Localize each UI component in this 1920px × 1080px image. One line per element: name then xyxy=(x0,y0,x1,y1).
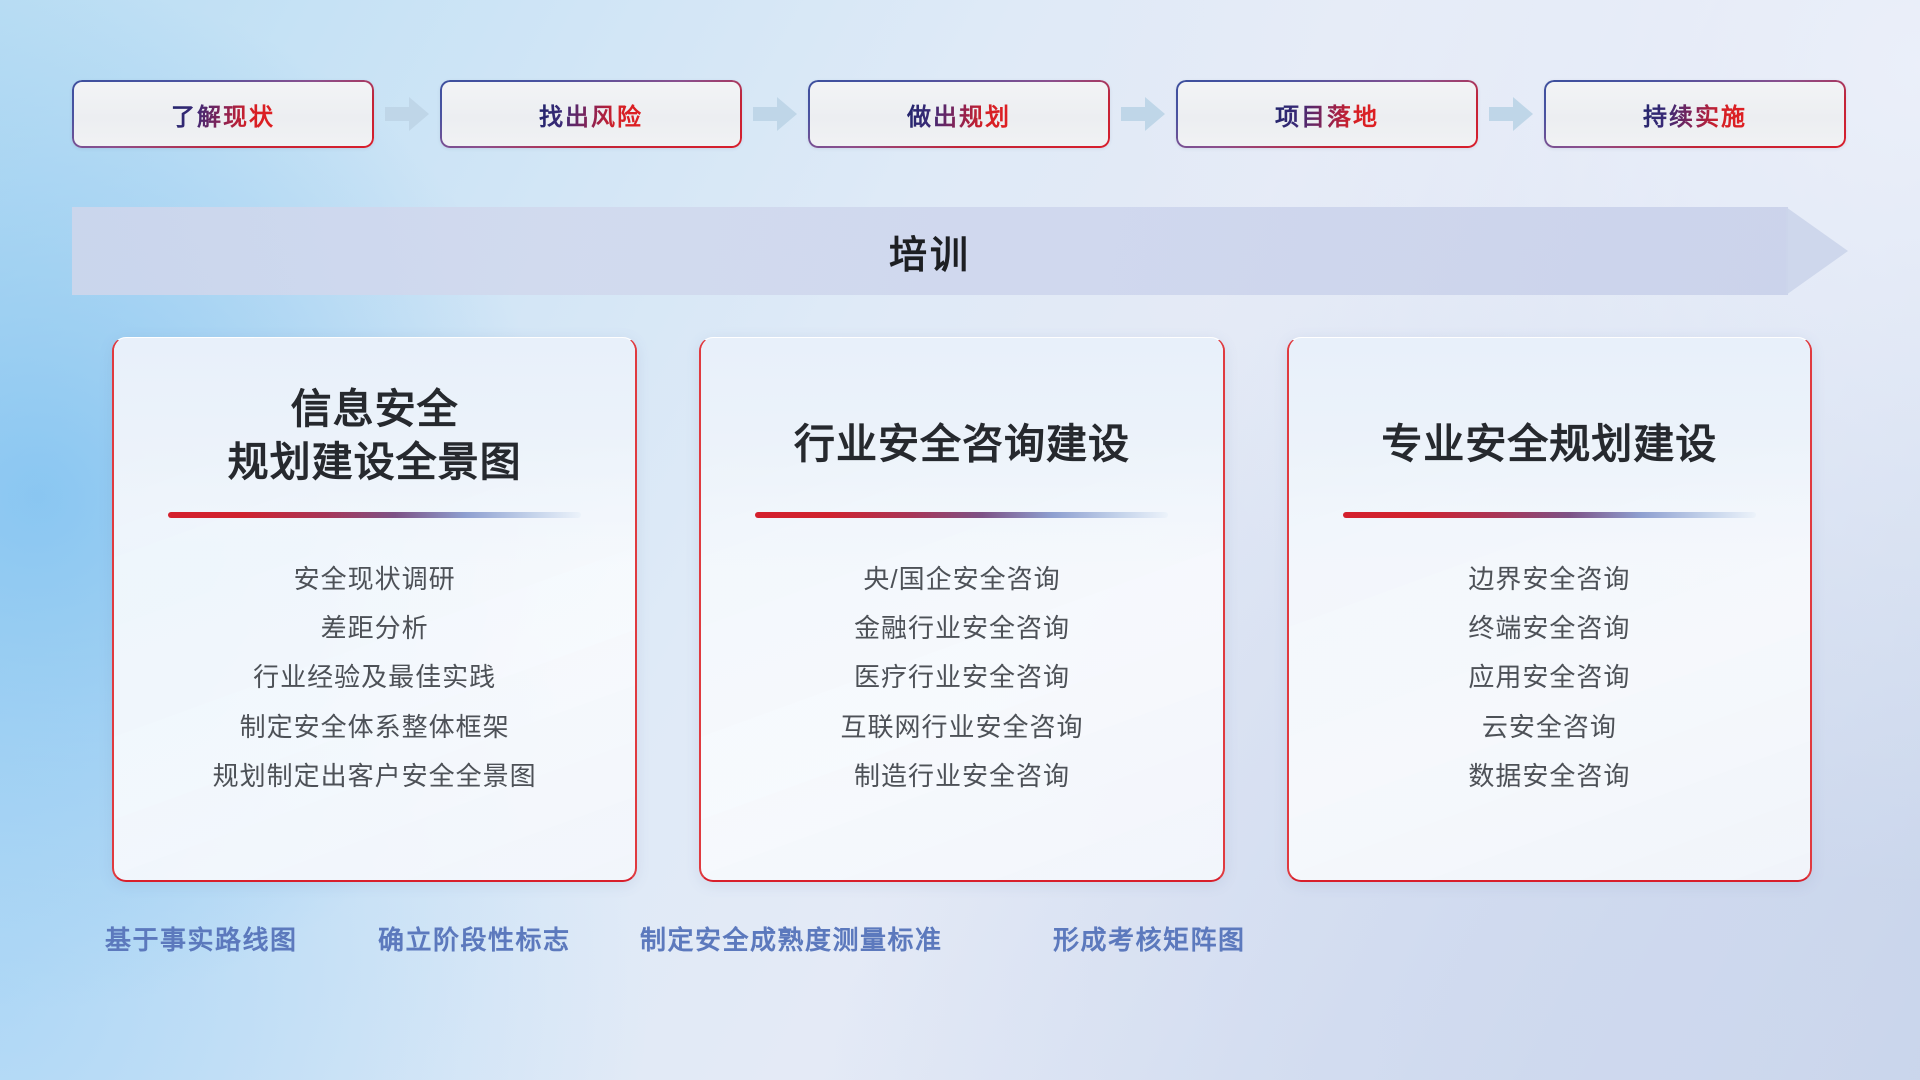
list-item: 安全现状调研 xyxy=(294,564,456,595)
process-step-1-label: 了解现状 xyxy=(171,97,275,132)
list-item: 终端安全咨询 xyxy=(1468,613,1630,644)
process-step-3-label: 做出规划 xyxy=(907,97,1011,132)
card-information-security-blueprint[interactable]: 信息安全 规划建设全景图 安全现状调研 差距分析 行业经验及最佳实践 制定安全体… xyxy=(112,337,637,882)
card-3-divider xyxy=(1343,512,1756,518)
process-step-2-label: 找出风险 xyxy=(539,97,643,132)
process-step-row: 了解现状 找出风险 做出规划 项目落地 xyxy=(72,80,1848,148)
process-step-3[interactable]: 做出规划 xyxy=(808,80,1110,148)
training-banner: 培训 xyxy=(72,207,1848,295)
card-1-title-line1: 信息安全 xyxy=(291,386,459,432)
list-item: 应用安全咨询 xyxy=(1468,662,1630,693)
list-item: 边界安全咨询 xyxy=(1468,564,1630,595)
list-item: 互联网行业安全咨询 xyxy=(840,712,1083,743)
arrow-right-icon xyxy=(374,94,440,134)
process-step-4-label: 项目落地 xyxy=(1275,97,1379,132)
footnote-milestone: 确立阶段性标志 xyxy=(378,920,571,957)
list-item: 差距分析 xyxy=(321,613,429,644)
list-item: 规划制定出客户安全全景图 xyxy=(213,761,537,792)
training-banner-title: 培训 xyxy=(72,207,1788,295)
card-1-divider xyxy=(168,512,581,518)
card-2-divider xyxy=(755,512,1168,518)
card-3-title: 专业安全规划建设 xyxy=(1381,382,1717,490)
process-step-5[interactable]: 持续实施 xyxy=(1544,80,1846,148)
card-professional-security-planning[interactable]: 专业安全规划建设 边界安全咨询 终端安全咨询 应用安全咨询 云安全咨询 数据安全… xyxy=(1287,337,1812,882)
slide-canvas: 了解现状 找出风险 做出规划 项目落地 xyxy=(0,0,1920,1080)
process-step-1[interactable]: 了解现状 xyxy=(72,80,374,148)
list-item: 金融行业安全咨询 xyxy=(854,613,1070,644)
list-item: 制造行业安全咨询 xyxy=(854,761,1070,792)
card-3-list: 边界安全咨询 终端安全咨询 应用安全咨询 云安全咨询 数据安全咨询 xyxy=(1468,564,1630,792)
arrow-right-icon xyxy=(1478,94,1544,134)
arrow-right-icon xyxy=(742,94,808,134)
footnote-assessment-matrix: 形成考核矩阵图 xyxy=(1053,920,1246,957)
list-item: 制定安全体系整体框架 xyxy=(240,712,510,743)
card-row: 信息安全 规划建设全景图 安全现状调研 差距分析 行业经验及最佳实践 制定安全体… xyxy=(112,337,1812,882)
banner-arrow-icon xyxy=(1786,193,1848,309)
list-item: 医疗行业安全咨询 xyxy=(854,662,1070,693)
list-item: 云安全咨询 xyxy=(1482,712,1617,743)
footnote-row: 基于事实路线图 确立阶段性标志 制定安全成熟度测量标准 形成考核矩阵图 xyxy=(0,920,1920,970)
card-industry-security-consulting[interactable]: 行业安全咨询建设 央/国企安全咨询 金融行业安全咨询 医疗行业安全咨询 互联网行… xyxy=(699,337,1224,882)
card-1-title-line2: 规划建设全景图 xyxy=(228,439,522,485)
list-item: 数据安全咨询 xyxy=(1468,761,1630,792)
process-step-5-label: 持续实施 xyxy=(1643,97,1747,132)
list-item: 央/国企安全咨询 xyxy=(863,564,1060,595)
arrow-right-icon xyxy=(1110,94,1176,134)
card-1-list: 安全现状调研 差距分析 行业经验及最佳实践 制定安全体系整体框架 规划制定出客户… xyxy=(213,564,537,792)
list-item: 行业经验及最佳实践 xyxy=(253,662,496,693)
card-2-list: 央/国企安全咨询 金融行业安全咨询 医疗行业安全咨询 互联网行业安全咨询 制造行… xyxy=(840,564,1083,792)
footnote-fact-based-roadmap: 基于事实路线图 xyxy=(105,920,298,957)
card-2-title: 行业安全咨询建设 xyxy=(794,382,1130,490)
process-step-2[interactable]: 找出风险 xyxy=(440,80,742,148)
card-1-title: 信息安全 规划建设全景图 xyxy=(228,382,522,490)
footnote-maturity-standard: 制定安全成熟度测量标准 xyxy=(640,920,943,957)
process-step-4[interactable]: 项目落地 xyxy=(1176,80,1478,148)
